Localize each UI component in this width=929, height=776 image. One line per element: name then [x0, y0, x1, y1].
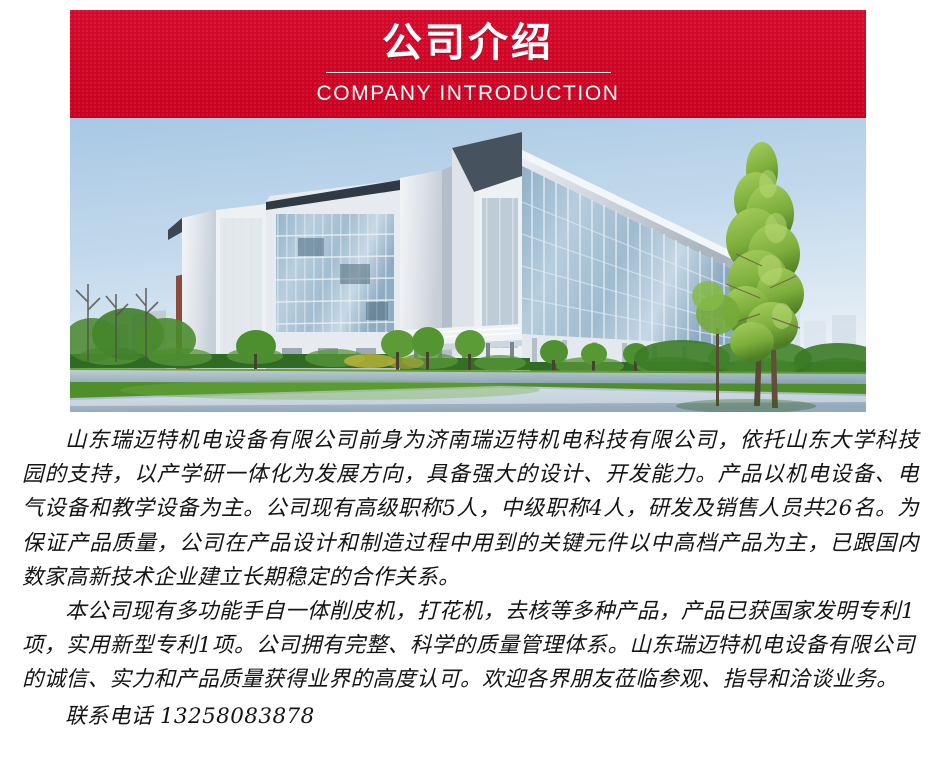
- angled-tower: [452, 132, 522, 356]
- company-description: 山东瑞迈特机电设备有限公司前身为济南瑞迈特机电科技有限公司，依托山东大学科技园的…: [0, 424, 929, 734]
- central-glass-block: [266, 180, 400, 362]
- company-introduction-banner: 公司介绍 COMPANY INTRODUCTION: [70, 10, 866, 118]
- page-title: 公司介绍: [70, 10, 866, 67]
- intro-paragraph-2: 本公司现有多功能手自一体削皮机，打花机，去核等多种产品，产品已获国家发明专利1项…: [0, 595, 929, 698]
- intro-paragraph-1: 山东瑞迈特机电设备有限公司前身为济南瑞迈特机电科技有限公司，依托山东大学科技园的…: [0, 424, 929, 595]
- company-building-photo: [70, 118, 866, 412]
- banner-content: 公司介绍 COMPANY INTRODUCTION: [70, 10, 866, 107]
- contact-phone: 联系电话 13258083878: [0, 698, 929, 734]
- building-illustration: [70, 118, 866, 412]
- page-subtitle: COMPANY INTRODUCTION: [70, 73, 866, 107]
